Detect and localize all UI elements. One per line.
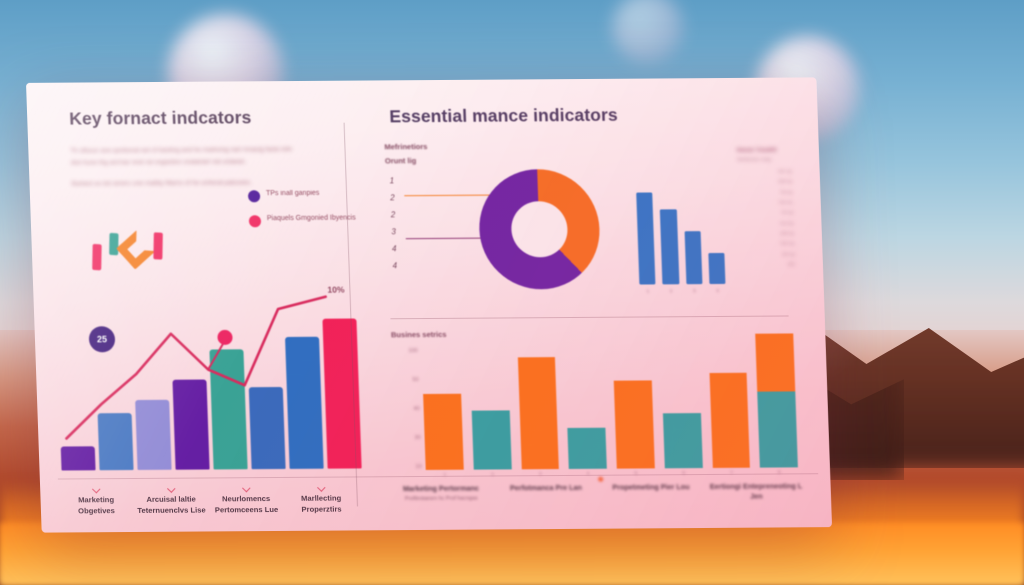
legend-label: Piaquels Gmgonied Ibyencis (267, 214, 356, 224)
background-orange-strip (0, 523, 1024, 585)
bar (517, 347, 559, 469)
logo-bar-pink-right (153, 232, 162, 259)
legend-item: Piaquels Gmgonied Ibyencis (249, 213, 369, 227)
right-panel-title: Essential mance indicators (389, 104, 784, 128)
business-metrics-y-axis: 100 50 40 30 10 (391, 348, 421, 470)
aside-line: mte-up (738, 198, 792, 209)
mini-bar (636, 192, 655, 284)
right-section-label: Mefrinetiors (384, 140, 792, 152)
mini-bar (708, 253, 725, 284)
mini-bar (684, 231, 702, 284)
footer-label[interactable]: Marketing Pertormanc Profitrotaesrn hc P… (388, 483, 494, 504)
x-tick: 4 (569, 471, 607, 476)
aside-line: ain-ug (740, 249, 794, 260)
x-tick: 2 (474, 471, 512, 476)
aside-subtitle: Mtelletvasn eotgs (737, 157, 791, 162)
y-tick: 3 (391, 227, 409, 236)
x-tick: 8 (760, 469, 798, 474)
x-tick: 5 (617, 470, 655, 475)
logo-arc-orange (116, 230, 156, 269)
status-dot-icon (598, 477, 603, 482)
logo-bar-teal (109, 233, 118, 255)
bar (708, 346, 750, 468)
y-tick: 50 (392, 377, 418, 383)
aside-title: Reost Tlssdift (737, 148, 791, 154)
y-tick: 40 (394, 406, 420, 412)
left-footer-labels: Marketing Obgetives Arcuisal laltie Tete… (58, 484, 359, 516)
legend-label: TPs inall ganpies (266, 189, 320, 199)
aside-line: ade-ug (738, 177, 792, 188)
footer-label-text: Marketing Obgetives (78, 495, 115, 515)
aside-line: nter ug (737, 167, 791, 178)
trend-end-label: 10% (327, 285, 344, 295)
metric-badge: 25 (89, 326, 116, 352)
bar (469, 347, 511, 469)
left-chart-trend-line (55, 287, 361, 471)
chevron-down-icon (317, 483, 325, 491)
aside-line: ftn-ug (738, 187, 792, 198)
footer-label[interactable]: Marllecting Properztirs (283, 484, 359, 515)
x-tick: 6 (665, 470, 703, 475)
mini-bar-ticks: 1 2 3 4 (640, 288, 726, 294)
y-tick: 100 (391, 348, 417, 354)
footer-label-text: Eertiongi Entepreneoting L Jen (710, 481, 803, 500)
x-tick: 3 (521, 471, 559, 476)
business-metrics-plot (421, 345, 797, 470)
right-footer-labels: Marketing Pertormanc Profitrotaesrn hc P… (388, 481, 809, 504)
footer-label-text: Neurlomencs Pertomceens Lue (215, 494, 279, 514)
legend-dot-pink-icon (249, 215, 261, 227)
business-metrics-label: Busines setrics (391, 327, 799, 339)
x-tick: 7 (712, 470, 750, 475)
y-tick: 4 (392, 244, 410, 253)
x-tick: 1 (426, 472, 464, 477)
y-tick: 1 (389, 176, 407, 185)
bar (421, 348, 463, 470)
mini-bar-chart (636, 192, 725, 285)
footer-label[interactable]: Perfotmanca Pre Lan (493, 483, 599, 504)
y-tick: 4 (392, 261, 410, 270)
footer-label[interactable]: Neurlomencs Pertomceens Lue (208, 485, 284, 516)
footer-label-text: Perfotmanca Pre Lan (510, 483, 582, 492)
legend-item: TPs inall ganpies (248, 188, 368, 202)
legend-dot-purple-icon (248, 190, 260, 202)
footer-label[interactable]: Eertiongi Entepreneoting L Jen (703, 481, 809, 502)
right-aside-panel: Reost Tlssdift Mtelletvasn eotgs nter ug… (737, 148, 795, 271)
donut-chart (477, 169, 601, 290)
brand-logo-icon (90, 228, 171, 273)
footer-label-text: Marketing Pertormanc (403, 484, 479, 494)
aside-line: lekt (741, 260, 795, 271)
footer-label-text: Arcuisal laltie Teternuenclvs Lise (137, 495, 206, 515)
bar (565, 347, 607, 469)
business-metrics-bars (421, 345, 797, 470)
footer-label-sub: Profitrotaesrn hc Prof hacngas (392, 496, 491, 504)
chevron-down-icon (91, 485, 99, 493)
mini-bar (660, 209, 679, 285)
left-chart-legend: TPs inall ganpies Piaquels Gmgonied Ibye… (248, 188, 370, 239)
footer-label[interactable]: Propetmeting Pier Lou (598, 482, 704, 503)
x-tick: 3 (686, 288, 702, 293)
x-tick: 4 (709, 288, 725, 293)
bar (660, 346, 702, 468)
y-tick: 10 (396, 464, 422, 470)
chevron-down-icon (242, 484, 250, 492)
footer-label-text: Marllecting Properztirs (301, 494, 342, 514)
chevron-down-icon (167, 484, 175, 492)
left-combo-chart: 25 10% (55, 291, 361, 471)
trend-marker-dot (217, 330, 233, 345)
logo-bar-pink-left (92, 244, 101, 270)
left-panel-title: Key fornact indcators (69, 107, 338, 130)
y-tick: 2 (391, 210, 409, 219)
left-panel-body: Th oflosor ane qonbonal aot of basting a… (70, 144, 297, 191)
left-paragraph-1: Th oflosor ane qonbonal aot of basting a… (70, 144, 296, 171)
bar-stacked (756, 345, 798, 467)
right-section-sublabel: Orunt lig (385, 154, 793, 166)
footer-label[interactable]: Arcuisal laltie Teternuenclvs Lise (133, 485, 209, 516)
aside-line: rte-ug (739, 208, 793, 219)
bar (613, 346, 655, 468)
right-top-section: Mefrinetiors Orunt lig 1 2 2 3 4 4 (384, 140, 798, 313)
footer-label-text: Propetmeting Pier Lou (612, 482, 689, 492)
aside-line: ede-ug (740, 229, 794, 240)
report-card: Key fornact indcators Th oflosor ane qon… (26, 77, 832, 532)
y-tick: 30 (395, 435, 421, 441)
x-tick: 1 (640, 288, 656, 293)
aside-line: mte-ug (740, 239, 794, 250)
right-y-axis-list: 1 2 2 3 4 4 (389, 176, 410, 270)
aside-line: snu-ug (739, 218, 793, 229)
business-metrics-chart: Busines setrics 100 50 40 30 10 (391, 327, 804, 476)
scene-root: Key fornact indcators Th oflosor ane qon… (0, 0, 1024, 585)
x-tick: 2 (663, 288, 679, 293)
footer-label[interactable]: Marketing Obgetives (58, 486, 134, 517)
